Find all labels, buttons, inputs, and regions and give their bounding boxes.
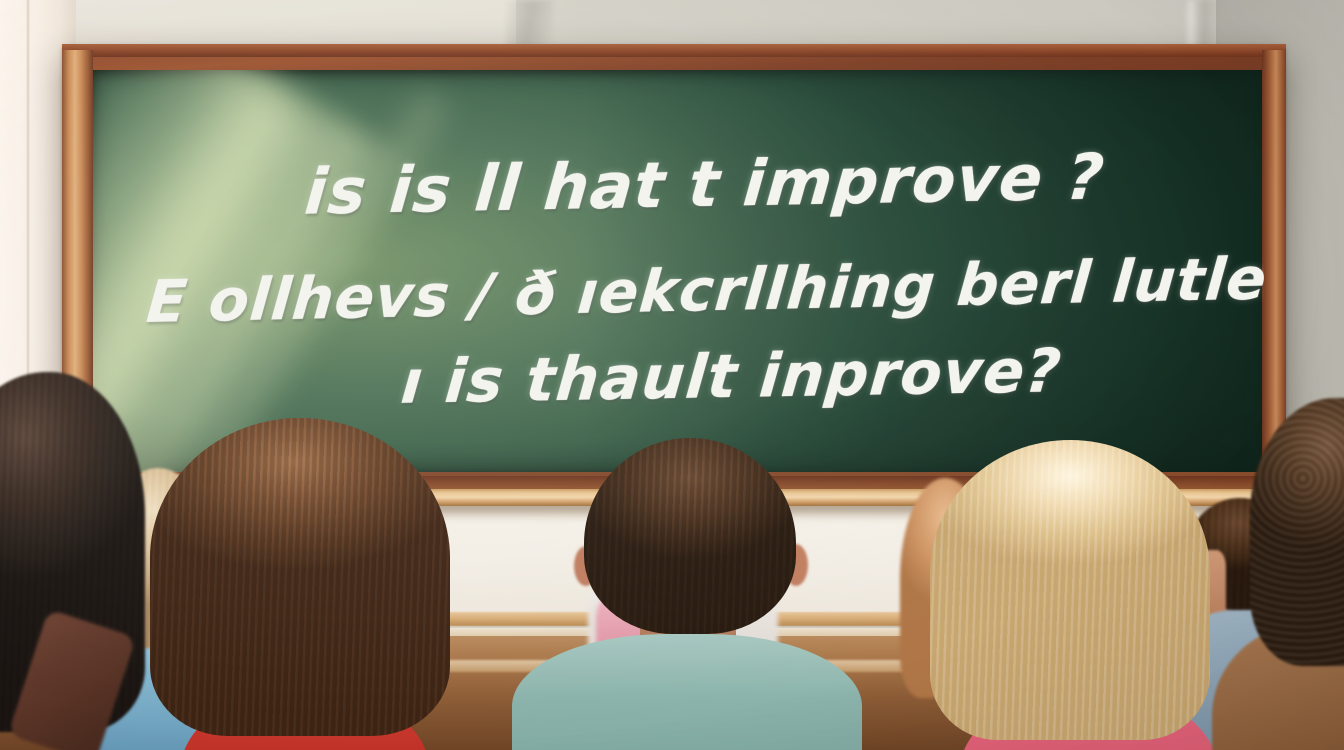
frame-top-edge xyxy=(62,44,1286,57)
student-center-boy xyxy=(512,438,862,750)
hair-strands xyxy=(930,440,1210,740)
chalk-writing: is is ll hat t improve ? E ollhevs / ð ı… xyxy=(92,70,1264,472)
classroom-scene: is is ll hat t improve ? E ollhevs / ð ı… xyxy=(0,0,1344,750)
chalk-line-3: ı is thault inprove? xyxy=(398,336,1064,417)
student-body xyxy=(512,634,862,750)
student-head xyxy=(930,440,1210,740)
blackboard-surface: is is ll hat t improve ? E ollhevs / ð ı… xyxy=(92,70,1264,472)
chalk-line-2: E ollhevs / ð ıekcrllhing berl lutlel xyxy=(144,244,1264,336)
blackboard: is is ll hat t improve ? E ollhevs / ð ı… xyxy=(62,44,1286,494)
student-far-right xyxy=(1250,398,1344,750)
hair-curls xyxy=(1250,398,1344,666)
student-head xyxy=(1250,398,1344,666)
chalk-line-1: is is ll hat t improve ? xyxy=(302,140,1108,228)
blackboard-frame: is is ll hat t improve ? E ollhevs / ð ı… xyxy=(62,44,1286,494)
student-blonde-right xyxy=(930,440,1230,750)
